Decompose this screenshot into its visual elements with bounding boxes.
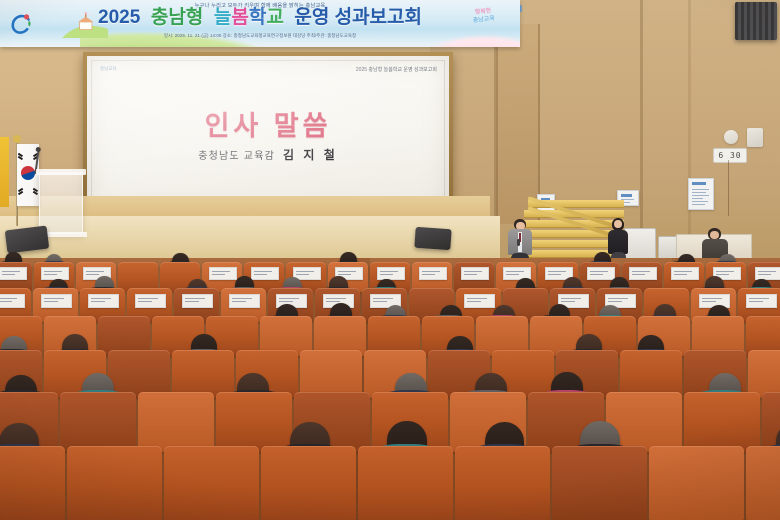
seat-name-card — [229, 294, 261, 308]
slide-header: 2025 충남형 늘봄학교 운영 성과보고회 — [356, 66, 437, 73]
clock-stem — [728, 160, 729, 216]
acrylic-podium — [39, 172, 83, 234]
auditorium-seat[interactable] — [620, 350, 682, 398]
slide-header-text: 2025 충남형 늘봄학교 운영 성과보고회 — [356, 67, 437, 73]
side-door[interactable] — [496, 24, 540, 224]
taegukgi-cloth — [17, 144, 39, 206]
event-banner: 누구나 누리고 모두가 키우며 함께 배움을 밝히는 충남교육 2025 충남형… — [0, 0, 520, 47]
banner-title-part: 교 — [266, 8, 283, 28]
seat-name-card — [464, 294, 496, 308]
ceiling-speaker-icon — [735, 2, 777, 40]
seat-name-card — [182, 294, 214, 308]
slide-speaker-name: 김 지 철 — [283, 148, 338, 162]
seat-name-card — [41, 267, 69, 279]
banner-title-part: 늘 — [214, 8, 231, 28]
seat-name-card — [0, 267, 27, 279]
banner-title-part: 충남형 — [151, 8, 203, 28]
banner-title-part: 2025 — [98, 8, 140, 28]
auditorium-seat[interactable] — [746, 446, 780, 520]
seat-name-card — [209, 267, 237, 279]
seat-name-card — [671, 267, 699, 279]
seat-name-card — [746, 294, 778, 308]
wall-switch-panel[interactable] — [747, 128, 763, 147]
flag-gold-band — [0, 137, 9, 207]
auditorium-seat[interactable] — [164, 446, 259, 520]
auditorium-seat[interactable] — [552, 446, 647, 520]
auditorium-seat[interactable] — [261, 446, 356, 520]
auditorium-seat[interactable] — [684, 392, 760, 452]
banner-title: 2025 충남형 늘봄학교 운영 성과보고회 — [0, 8, 520, 28]
slide-speaker-role: 충청남도 교육감 — [198, 151, 275, 162]
seat-name-card — [587, 267, 615, 279]
seat-name-card — [755, 267, 780, 279]
auditorium-seat[interactable] — [172, 350, 234, 398]
digital-clock: 6 30 — [713, 148, 747, 163]
auditorium-seat[interactable] — [67, 446, 162, 520]
seat-name-card — [461, 267, 489, 279]
projection-screen: 충남교육 2025 충남형 늘봄학교 운영 성과보고회 인사 말씀 충청남도 교… — [87, 56, 449, 218]
auditorium-seat[interactable] — [60, 392, 136, 452]
smoke-detector-icon — [724, 130, 738, 144]
auditorium-seat[interactable] — [300, 350, 362, 398]
seat-name-card — [88, 294, 120, 308]
seat-name-card — [251, 267, 279, 279]
seat-name-card — [0, 294, 25, 308]
auditorium-seat[interactable] — [216, 392, 292, 452]
auditorium-seat[interactable] — [358, 446, 453, 520]
slide-title: 인사 말씀 — [87, 104, 449, 143]
auditorium-seat[interactable] — [0, 446, 65, 520]
auditorium-seat[interactable] — [748, 350, 780, 398]
seat-name-card — [377, 267, 405, 279]
seat-name-card — [135, 294, 167, 308]
auditorium-seat[interactable] — [649, 446, 744, 520]
slide-speaker: 충청남도 교육감 김 지 철 — [87, 146, 449, 163]
wall-notice-poster — [688, 178, 714, 210]
banner-title-part: 학 — [249, 8, 266, 28]
slide-corner-logo: 충남교육 — [100, 66, 117, 71]
korean-flag — [4, 140, 38, 226]
taeguk-symbol — [21, 166, 35, 180]
seat-row — [0, 446, 780, 520]
audience-seating — [0, 258, 780, 520]
auditorium-seat[interactable] — [138, 392, 214, 452]
banner-footer: 일시: 2025. 11. 21.(금) 14:00 장소: 충청남도교육청교육… — [0, 33, 520, 39]
auditorium-photo: 6 30 누구나 누리고 모두가 키우며 함께 배움을 밝히는 충남교육 — [0, 0, 780, 520]
seat-name-card — [41, 294, 73, 308]
auditorium-seat[interactable] — [455, 446, 550, 520]
banner-title-part: 운영 성과보고회 — [294, 8, 422, 28]
banner-title-part: 봄 — [231, 8, 248, 28]
stage-monitor-speaker — [414, 227, 451, 250]
seat-name-card — [629, 267, 657, 279]
seat-name-card — [419, 267, 447, 279]
